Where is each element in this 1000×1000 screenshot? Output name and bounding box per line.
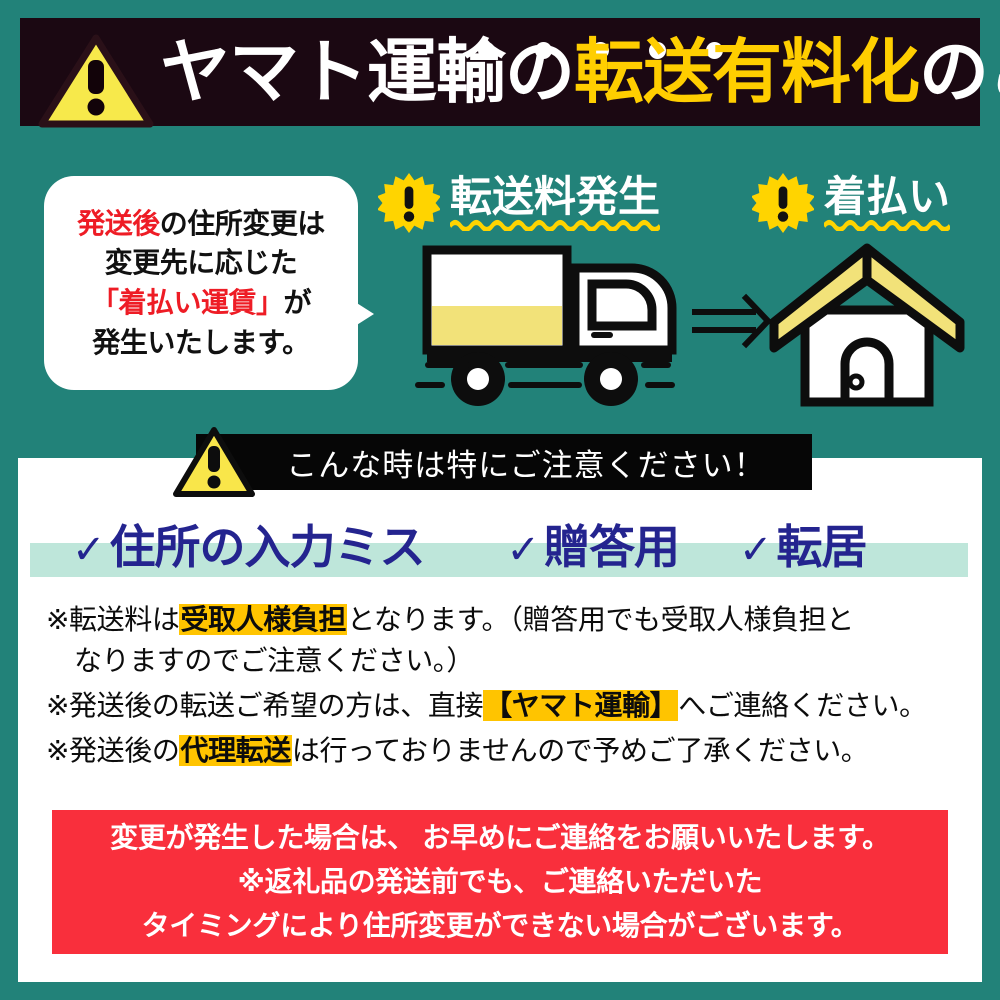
header-title-highlight: 転送有料化: [574, 33, 919, 111]
check-mark-icon: ✓: [507, 527, 541, 573]
note-item-0: ※転送料は受取人様負担となります。（贈答用でも受取人様負担と なりますのでご注意…: [46, 600, 966, 682]
bubble-line1-red: 発送後: [77, 208, 160, 239]
check-item-moving: ✓ 転居: [739, 511, 867, 577]
transfer-fee-label: 転送料発生: [378, 172, 660, 234]
check-item-gift: ✓ 贈答用: [507, 511, 680, 577]
note-prefix: ※発送後の: [46, 735, 179, 766]
note-continuation: なりますのでご注意ください。）: [46, 641, 966, 682]
cod-text: 着払い: [824, 173, 950, 220]
footer-line-1: 変更が発生した場合は、 お早めにご連絡をお願いいたします。: [110, 817, 890, 859]
warning-triangle-icon: [38, 34, 154, 128]
note-item-2: ※発送後の代理転送は行っておりませんので予めご了承ください。: [46, 731, 966, 772]
note-prefix: ※転送料は: [46, 604, 179, 635]
check-mark-icon: ✓: [739, 527, 773, 573]
illustration-group: [0, 236, 1000, 426]
poster-root: ヤマト運輸の転送有料化のご案内 発送後の住所変更は 変更先に応じた 「着払い運賃…: [0, 0, 1000, 1000]
check-item-label: 住所の入力ミス: [110, 511, 425, 577]
header-title-part1: ヤマト運輸の: [160, 33, 574, 111]
bubble-line1-black: の住所変更は: [160, 208, 325, 239]
footer-line-2: ※返礼品の発送前でも、ご連絡いただいた: [238, 861, 763, 903]
caution-banner: こんな時は特にご注意ください！: [196, 434, 812, 490]
check-item-label: 転居: [777, 511, 867, 577]
wavy-underline-icon: [450, 219, 660, 231]
header-bar: ヤマト運輸の転送有料化のご案内: [20, 18, 980, 126]
check-mark-icon: ✓: [72, 527, 106, 573]
checks-row: ✓ 住所の入力ミス ✓ 贈答用 ✓ 転居: [30, 508, 968, 580]
double-arrow-right-icon: [695, 298, 768, 344]
warning-triangle-icon: [172, 426, 256, 498]
note-item-1: ※発送後の転送ご希望の方は、直接【ヤマト運輸】へご連絡ください。: [46, 686, 966, 727]
note-highlight: 代理転送: [179, 735, 291, 766]
caution-banner-text: こんな時は特にご注意ください！: [242, 440, 765, 485]
notes-list: ※転送料は受取人様負担となります。（贈答用でも受取人様負担と なりますのでご注意…: [46, 600, 966, 776]
note-prefix: ※発送後の転送ご希望の方は、直接: [46, 690, 483, 721]
cash-on-delivery-label: 着払い: [752, 172, 950, 234]
note-suffix: は行っておりませんので予めご了承ください。: [292, 735, 869, 766]
note-highlight: 受取人様負担: [179, 604, 347, 635]
delivery-truck-icon: [415, 250, 675, 406]
transfer-fee-text: 転送料発生: [450, 173, 660, 220]
exclamation-starburst-icon: [752, 172, 814, 234]
footer-line-3: タイミングにより住所変更ができない場合がございます。: [142, 905, 859, 947]
wavy-underline-icon: [824, 219, 950, 231]
footer-alert-box: 変更が発生した場合は、 お早めにご連絡をお願いいたします。 ※返礼品の発送前でも…: [52, 810, 948, 954]
transfer-fee-text-wrap: 転送料発生: [450, 175, 660, 231]
note-suffix: へご連絡ください。: [678, 690, 926, 721]
header-title-part2: のご案内: [919, 33, 1000, 111]
check-item-label: 贈答用: [544, 511, 679, 577]
note-highlight: 【ヤマト運輸】: [483, 690, 678, 721]
exclamation-starburst-icon: [378, 172, 440, 234]
cod-text-wrap: 着払い: [824, 175, 950, 231]
header-title: ヤマト運輸の転送有料化のご案内: [160, 37, 1000, 107]
house-icon: [774, 248, 960, 402]
note-suffix: となります。（贈答用でも受取人様負担と: [347, 604, 854, 635]
check-item-address-typo: ✓ 住所の入力ミス: [72, 511, 425, 577]
